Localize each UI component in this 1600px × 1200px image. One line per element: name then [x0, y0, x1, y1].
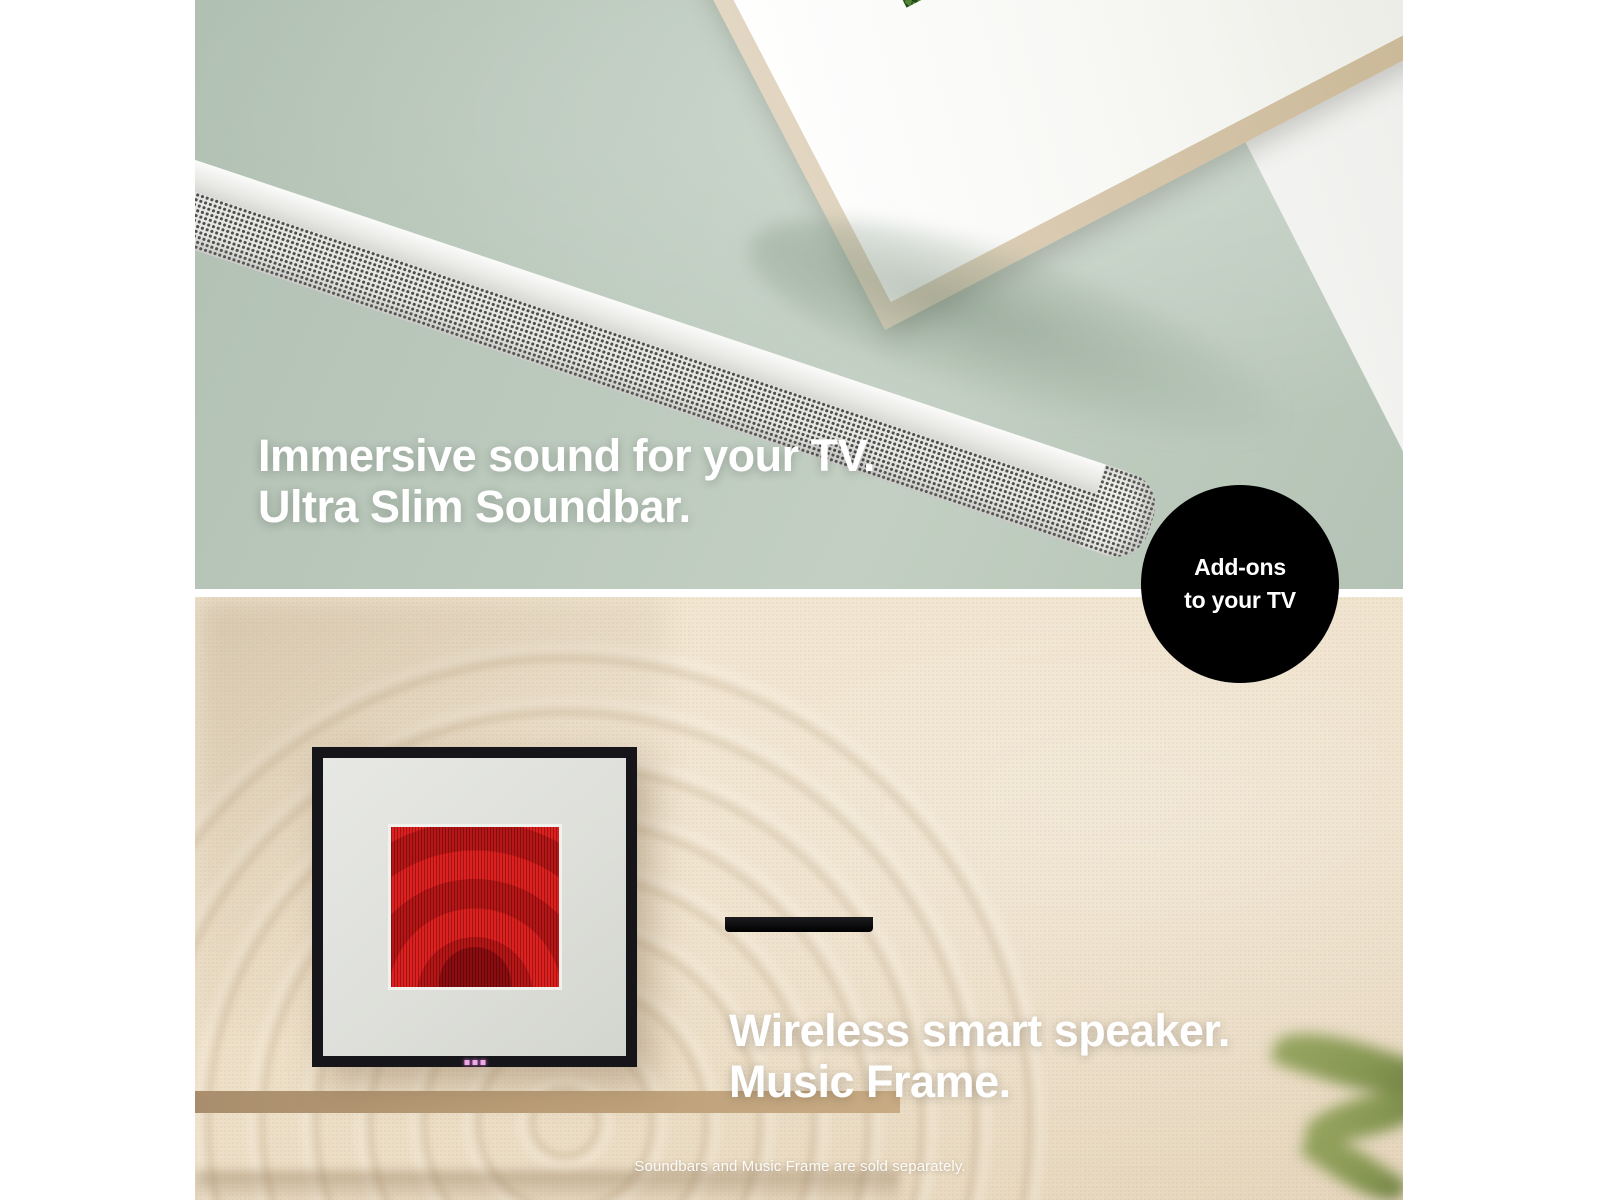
music-frame-stand [725, 917, 873, 932]
shelf-drop-shadow [195, 1171, 900, 1200]
music-frame-artwork [391, 827, 559, 987]
badge-line-2: to your TV [1184, 584, 1296, 617]
panel-music-frame[interactable] [195, 597, 1403, 1200]
disclaimer-text: Soundbars and Music Frame are sold separ… [0, 1158, 1600, 1175]
add-ons-badge[interactable]: Add-ons to your TV [1141, 485, 1339, 683]
music-frame-speaker [312, 747, 637, 1067]
fern-photograph [768, 0, 1199, 8]
fern-foliage-texture [768, 0, 1199, 8]
badge-line-1: Add-ons [1194, 551, 1286, 584]
led-indicator [464, 1060, 485, 1065]
music-frame-mat [323, 758, 626, 1056]
artwork-line-texture [391, 827, 559, 987]
promo-banner: Immersive sound for your TV. Ultra Slim … [0, 0, 1600, 1200]
headline-music-frame: Wireless smart speaker. Music Frame. [729, 1005, 1230, 1108]
headline-soundbar: Immersive sound for your TV. Ultra Slim … [258, 430, 875, 533]
